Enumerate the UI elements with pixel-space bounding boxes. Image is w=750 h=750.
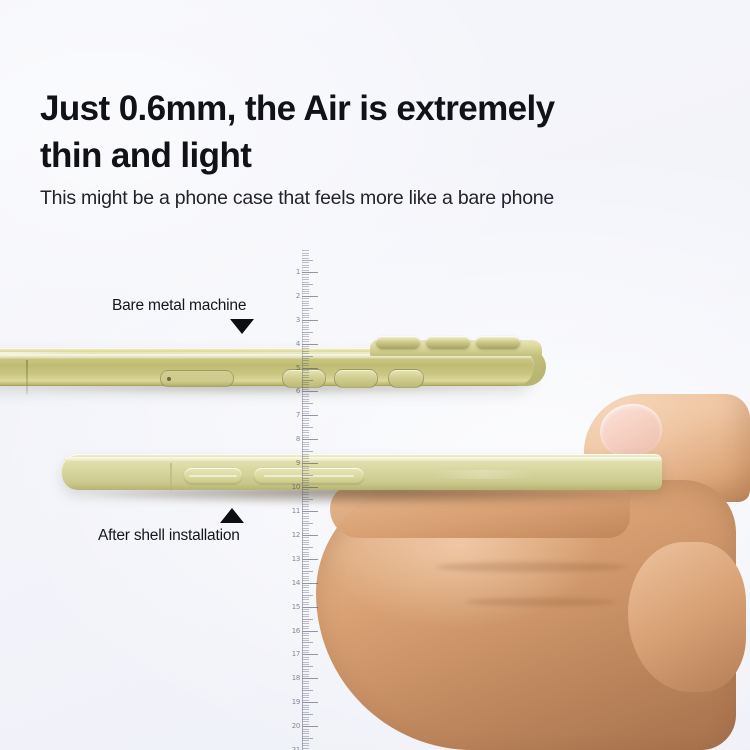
camera-lens-1: [376, 336, 420, 349]
ruler-tick-minor: [302, 313, 309, 314]
ruler-tick-minor: [302, 466, 309, 467]
ruler-tick-minor: [302, 258, 309, 259]
ruler-tick-major: [302, 702, 318, 703]
ruler-tick-minor: [302, 688, 309, 689]
ruler-tick-minor: [302, 325, 309, 326]
annotation-after-shell-label: After shell installation: [98, 527, 244, 545]
ruler-tick-minor: [302, 351, 309, 352]
ruler-label: 16: [292, 627, 300, 635]
ruler-tick-minor: [302, 427, 313, 428]
ruler-tick-minor: [302, 501, 309, 502]
ruler-label: 13: [292, 555, 300, 563]
palm-crease-2: [466, 598, 616, 606]
ruler-tick-minor: [302, 473, 309, 474]
ruler-label: 12: [292, 531, 300, 539]
sim-tray: [160, 370, 234, 387]
ruler-tick-minor: [302, 700, 309, 701]
ruler-tick-minor: [302, 525, 309, 526]
ruler-tick-minor: [302, 444, 309, 445]
ruler-tick-minor: [302, 556, 309, 557]
ruler-tick-minor: [302, 370, 309, 371]
ruler-tick-minor: [302, 332, 313, 333]
ruler-tick-major: [302, 678, 318, 679]
ruler-tick-minor: [302, 506, 309, 507]
ruler-tick-minor: [302, 576, 309, 577]
annotation-bare-metal: Bare metal machine: [112, 297, 254, 334]
ruler-tick-minor: [302, 564, 309, 565]
ruler-tick-minor: [302, 286, 309, 287]
phone-contact-shadow: [84, 488, 644, 504]
ruler-tick-minor: [302, 454, 309, 455]
ruler-label: 4: [296, 340, 300, 348]
ruler-tick-minor: [302, 674, 309, 675]
ruler-tick-minor: [302, 336, 309, 337]
ruler-tick-minor: [302, 671, 309, 672]
ruler-tick-minor: [302, 724, 309, 725]
ruler-tick-major: [302, 320, 318, 321]
ruler-label: 5: [296, 364, 300, 372]
ruler-tick-minor: [302, 317, 309, 318]
ruler-tick-minor: [302, 614, 309, 615]
ruler-tick-minor: [302, 580, 309, 581]
ruler-tick-minor: [302, 626, 309, 627]
ruler-tick-minor: [302, 659, 309, 660]
ruler-tick-minor: [302, 597, 309, 598]
ruler-tick-minor: [302, 449, 309, 450]
ruler-tick-minor: [302, 676, 309, 677]
ruler-tick-minor: [302, 270, 309, 271]
ruler-tick-minor: [302, 714, 313, 715]
ruler-tick-minor: [302, 540, 309, 541]
cased-phone-body: [62, 454, 662, 490]
ruler-tick-minor: [302, 265, 309, 266]
page-subtitle: This might be a phone case that feels mo…: [40, 187, 680, 210]
ruler-tick-minor: [302, 652, 309, 653]
ruler-tick-minor: [302, 578, 309, 579]
ruler-tick-minor: [302, 740, 309, 741]
ruler-tick-minor: [302, 647, 309, 648]
ruler-tick-major: [302, 559, 318, 560]
ruler-tick-major: [302, 463, 318, 464]
ruler-tick-minor: [302, 513, 309, 514]
ruler-tick-minor: [302, 315, 309, 316]
ruler-tick-minor: [302, 303, 309, 304]
ruler-tick-minor: [302, 621, 309, 622]
ruler-tick-minor: [302, 595, 313, 596]
ruler-tick-minor: [302, 425, 309, 426]
ruler-tick-minor: [302, 478, 309, 479]
ruler-tick-minor: [302, 561, 309, 562]
ruler-tick-minor: [302, 616, 309, 617]
ruler-tick-major: [302, 631, 318, 632]
volume-down-button: [334, 369, 378, 388]
ruler-label: 1: [296, 268, 300, 276]
ruler-label: 11: [292, 507, 300, 515]
ruler-tick-minor: [302, 360, 309, 361]
ruler-tick-minor: [302, 645, 309, 646]
marketing-copy: Just 0.6mm, the Air is extremely thin an…: [40, 86, 680, 210]
ruler-tick-minor: [302, 365, 309, 366]
ruler-tick-minor: [302, 451, 313, 452]
ruler-tick-major: [302, 296, 318, 297]
ruler-tick-minor: [302, 709, 309, 710]
ruler-tick-minor: [302, 662, 309, 663]
ruler-tick-minor: [302, 308, 313, 309]
ruler-tick-minor: [302, 530, 309, 531]
camera-lens-3: [476, 336, 520, 349]
ruler-tick-minor: [302, 523, 313, 524]
ruler-tick-minor: [302, 255, 309, 256]
ruler-tick-minor: [302, 435, 309, 436]
ruler-tick-minor: [302, 375, 309, 376]
ruler-tick-minor: [302, 729, 309, 730]
ruler-tick-minor: [302, 480, 309, 481]
ruler-tick-minor: [302, 748, 309, 749]
ruler-tick-minor: [302, 733, 309, 734]
ruler-tick-minor: [302, 382, 309, 383]
ruler-tick-minor: [302, 284, 313, 285]
ruler-tick-minor: [302, 341, 309, 342]
ruler-label: 7: [296, 411, 300, 419]
ruler-tick-minor: [302, 387, 309, 388]
ruler-tick-minor: [302, 504, 309, 505]
ruler-tick-minor: [302, 377, 309, 378]
ruler-tick-minor: [302, 363, 309, 364]
ruler-label: 18: [292, 674, 300, 682]
ruler-label: 19: [292, 698, 300, 706]
ruler-tick-minor: [302, 408, 309, 409]
ruler-tick-minor: [302, 461, 309, 462]
ruler-tick-minor: [302, 482, 309, 483]
ruler-tick-minor: [302, 547, 313, 548]
ruler-tick-minor: [302, 497, 309, 498]
ruler-tick-minor: [302, 571, 313, 572]
ruler-label: 9: [296, 459, 300, 467]
ruler-tick-minor: [302, 458, 309, 459]
ruler-tick-minor: [302, 736, 309, 737]
ruler-tick-minor: [302, 305, 309, 306]
ruler-tick-minor: [302, 420, 309, 421]
ruler-tick-minor: [302, 277, 309, 278]
ruler-tick-minor: [302, 262, 309, 263]
antenna-seam: [26, 360, 28, 394]
ruler-tick-major: [302, 368, 318, 369]
ruler-tick-minor: [302, 585, 309, 586]
ruler-tick-minor: [302, 456, 309, 457]
ruler-tick-minor: [302, 301, 309, 302]
ruler-tick-minor: [302, 509, 309, 510]
action-button: [388, 369, 424, 388]
ruler-tick-minor: [302, 693, 309, 694]
ruler-tick-minor: [302, 401, 309, 402]
ruler-tick-minor: [302, 573, 309, 574]
ruler-label: 6: [296, 387, 300, 395]
ruler-tick-major: [302, 487, 318, 488]
ruler-tick-minor: [302, 394, 309, 395]
ruler-tick-minor: [302, 403, 313, 404]
ruler-tick-minor: [302, 604, 309, 605]
ruler-tick-minor: [302, 310, 309, 311]
case-seam: [170, 463, 172, 493]
ruler-tick-minor: [302, 542, 309, 543]
ruler-tick-minor: [302, 738, 313, 739]
ruler-tick-minor: [302, 640, 309, 641]
camera-lens-2: [426, 336, 470, 349]
sim-eject-hole: [167, 377, 171, 381]
ruler-tick-minor: [302, 590, 309, 591]
ruler-tick-minor: [302, 380, 313, 381]
ruler-tick-minor: [302, 418, 309, 419]
ruler-tick-minor: [302, 552, 309, 553]
ruler-tick-minor: [302, 339, 309, 340]
ruler-tick-minor: [302, 346, 309, 347]
ruler-tick-minor: [302, 494, 309, 495]
ruler-tick-minor: [302, 411, 309, 412]
ruler-tick-minor: [302, 731, 309, 732]
ruler-tick-minor: [302, 554, 309, 555]
ruler-label: 14: [292, 579, 300, 587]
ruler-tick-minor: [302, 642, 313, 643]
ruler-tick-major: [302, 607, 318, 608]
page-title: Just 0.6mm, the Air is extremely thin an…: [40, 86, 680, 179]
ruler-tick-minor: [302, 282, 309, 283]
ruler-tick-minor: [302, 399, 309, 400]
ruler-tick-major: [302, 272, 318, 273]
ruler-tick-minor: [302, 348, 309, 349]
ruler-tick-minor: [302, 664, 309, 665]
ruler-tick-minor: [302, 528, 309, 529]
ruler-tick-minor: [302, 717, 309, 718]
ruler-tick-minor: [302, 250, 309, 251]
ruler-tick-minor: [302, 468, 309, 469]
ruler-tick-minor: [302, 260, 313, 261]
ruler-tick-minor: [302, 372, 309, 373]
ruler-label: 20: [292, 722, 300, 730]
product-marketing-image: 123456789101112131415161718192021 Bare m…: [0, 0, 750, 750]
ruler-tick-minor: [302, 705, 309, 706]
ruler-tick-minor: [302, 619, 313, 620]
ruler-tick-minor: [302, 628, 309, 629]
ruler-tick-minor: [302, 492, 309, 493]
ruler-tick-minor: [302, 396, 309, 397]
ruler-tick-minor: [302, 719, 309, 720]
ruler-tick-minor: [302, 475, 313, 476]
ruler-tick-minor: [302, 602, 309, 603]
ruler-tick-minor: [302, 267, 309, 268]
ruler-tick-minor: [302, 518, 309, 519]
ruler-tick-minor: [302, 707, 309, 708]
ruler-tick-major: [302, 583, 318, 584]
ruler-tick-minor: [302, 432, 309, 433]
ruler-tick-minor: [302, 599, 309, 600]
ruler-tick-minor: [302, 442, 309, 443]
ruler-label: 15: [292, 603, 300, 611]
ruler-tick-major: [302, 511, 318, 512]
ruler-tick-major: [302, 654, 318, 655]
ruler-tick-minor: [302, 253, 309, 254]
ruler-label: 21: [292, 746, 300, 750]
ruler-tick-minor: [302, 683, 309, 684]
ruler-label: 3: [296, 316, 300, 324]
annotation-after-shell: After shell installation: [98, 508, 244, 545]
ruler-label: 8: [296, 435, 300, 443]
ruler-tick-minor: [302, 334, 309, 335]
ruler-tick-minor: [302, 544, 309, 545]
ruler-tick-minor: [302, 446, 309, 447]
ruler-tick-minor: [302, 690, 313, 691]
ruler-tick-minor: [302, 327, 309, 328]
ruler-tick-major: [302, 344, 318, 345]
annotation-bare-metal-label: Bare metal machine: [112, 297, 254, 315]
ruler-tick-minor: [302, 533, 309, 534]
ruler-tick-minor: [302, 437, 309, 438]
ruler-tick-minor: [302, 657, 309, 658]
ruler-tick-minor: [302, 384, 309, 385]
ruler-tick-minor: [302, 430, 309, 431]
ruler-tick-minor: [302, 322, 309, 323]
ruler-tick-minor: [302, 356, 313, 357]
ruler-tick-minor: [302, 669, 309, 670]
ruler-tick-minor: [302, 650, 309, 651]
cased-phone-product-shot: [62, 448, 692, 508]
ruler-tick-minor: [302, 635, 309, 636]
ruler-tick-minor: [302, 566, 309, 567]
embossed-brand-mark: [430, 470, 534, 479]
ruler-tick-minor: [302, 568, 309, 569]
ruler-label: 17: [292, 650, 300, 658]
ruler-tick-minor: [302, 499, 313, 500]
ruler-tick-minor: [302, 686, 309, 687]
ruler-tick-minor: [302, 697, 309, 698]
triangle-up-icon: [220, 508, 244, 523]
ruler-tick-major: [302, 535, 318, 536]
ruler-tick-minor: [302, 489, 309, 490]
hand-holding-phone: [316, 392, 750, 750]
ruler-tick-major: [302, 415, 318, 416]
ruler-tick-minor: [302, 638, 309, 639]
ruler-tick-minor: [302, 666, 313, 667]
ruler-tick-minor: [302, 274, 309, 275]
ruler-tick-minor: [302, 279, 309, 280]
ruler-tick-minor: [302, 358, 309, 359]
case-top-lip: [63, 457, 661, 461]
ruler-tick-minor: [302, 623, 309, 624]
ruler-tick-minor: [302, 406, 309, 407]
palm-crease-1: [436, 562, 626, 572]
measuring-ruler: 123456789101112131415161718192021: [272, 248, 324, 750]
ruler-tick-minor: [302, 549, 309, 550]
ruler-tick-minor: [302, 587, 309, 588]
ruler-tick-minor: [302, 695, 309, 696]
ruler-tick-minor: [302, 289, 309, 290]
ruler-tick-minor: [302, 611, 309, 612]
ruler-tick-minor: [302, 633, 309, 634]
ruler-tick-minor: [302, 743, 309, 744]
ruler-tick-major: [302, 391, 318, 392]
ruler-tick-minor: [302, 521, 309, 522]
ruler-tick-major: [302, 439, 318, 440]
ruler-tick-minor: [302, 423, 309, 424]
ruler-tick-minor: [302, 413, 309, 414]
ruler-tick-minor: [302, 353, 309, 354]
ruler-tick-minor: [302, 592, 309, 593]
ruler-tick-minor: [302, 681, 309, 682]
triangle-down-icon: [230, 319, 254, 334]
ruler-tick-minor: [302, 516, 309, 517]
ruler-tick-minor: [302, 609, 309, 610]
ruler-tick-minor: [302, 291, 309, 292]
ruler-tick-minor: [302, 537, 309, 538]
ruler-tick-minor: [302, 389, 309, 390]
button-cover-1: [184, 468, 242, 484]
ruler-label: 10: [292, 483, 300, 491]
camera-plateau: [370, 340, 542, 356]
ruler-tick-minor: [302, 721, 309, 722]
ruler-tick-minor: [302, 745, 309, 746]
ruler-tick-minor: [302, 298, 309, 299]
ruler-tick-minor: [302, 329, 309, 330]
ruler-tick-minor: [302, 293, 309, 294]
ruler-label: 2: [296, 292, 300, 300]
ruler-tick-minor: [302, 485, 309, 486]
ruler-tick-minor: [302, 470, 309, 471]
ruler-tick-minor: [302, 712, 309, 713]
ruler-tick-major: [302, 726, 318, 727]
